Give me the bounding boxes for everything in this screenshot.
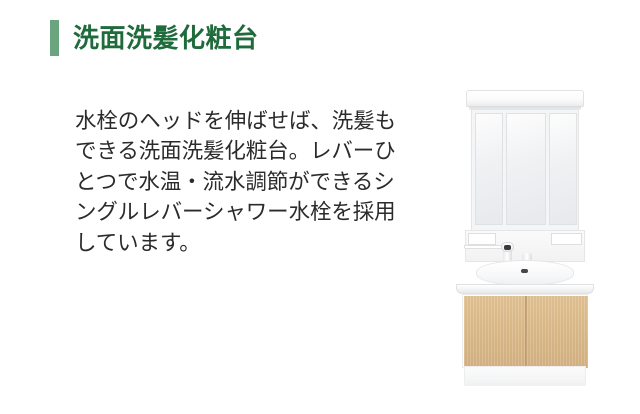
shelf-left xyxy=(468,233,496,245)
product-description-page: 洗面洗髪化粧台 水栓のヘッドを伸ばせば、洗髪もできる洗面洗髪化粧台。レバーひとつ… xyxy=(0,0,640,414)
vanity-cabinet xyxy=(462,294,588,368)
faucet-outlet xyxy=(504,245,511,250)
light-valance-icon xyxy=(466,90,584,107)
cabinet-door-right xyxy=(527,296,588,368)
page-title: 洗面洗髪化粧台 xyxy=(50,20,259,56)
shelf-left-lip xyxy=(464,245,502,249)
shelf-right xyxy=(551,233,582,245)
kick-plate-shadow xyxy=(464,383,586,386)
text-column: 洗面洗髪化粧台 水栓のヘッドを伸ばせば、洗髪もできる洗面洗髪化粧台。レバーひとつ… xyxy=(0,0,430,414)
cabinet-door-left xyxy=(464,296,525,368)
title-accent-bar xyxy=(50,20,59,56)
mirror-pane-left xyxy=(475,113,503,225)
mirror-cabinet xyxy=(471,109,579,231)
product-illustration xyxy=(438,62,628,392)
mirror-pane-right xyxy=(549,113,577,225)
counter-front-edge xyxy=(456,284,594,294)
description-text: 水栓のヘッドを伸ばせば、洗髪もできる洗面洗髪化粧台。レバーひとつで水温・流水調節… xyxy=(75,106,405,259)
mirror-pane-center xyxy=(506,113,546,225)
wash-basin xyxy=(476,260,574,286)
drain-icon xyxy=(521,269,528,273)
title-text: 洗面洗髪化粧台 xyxy=(73,20,259,56)
cabinet-door-gap xyxy=(525,296,527,368)
